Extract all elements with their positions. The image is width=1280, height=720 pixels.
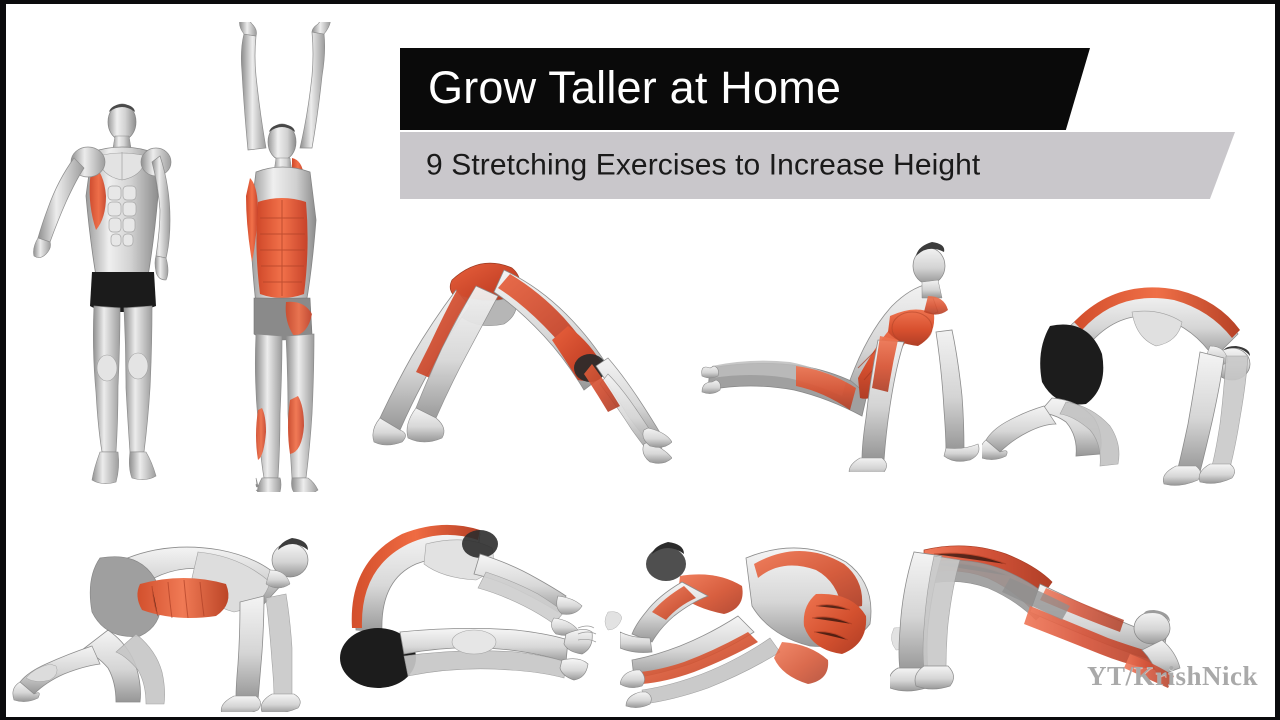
letterbox-right <box>1275 0 1280 720</box>
watermark: YT/KrishNick <box>1087 661 1258 692</box>
figure-seated-fold-twist <box>620 520 912 710</box>
seated-forward-bend-body <box>340 525 622 688</box>
title-bar: Grow Taller at Home <box>400 48 1090 130</box>
page-title: Grow Taller at Home <box>428 62 841 114</box>
letterbox-left <box>0 0 6 720</box>
overhead-reach-body <box>240 22 331 492</box>
cow-pose-body <box>13 538 308 712</box>
figure-cow-pose <box>12 512 334 712</box>
figure-cobra-upward-dog <box>700 240 982 472</box>
seated-fold-body <box>620 542 912 708</box>
cat-pose-body <box>982 287 1250 485</box>
figure-standing-neutral <box>30 100 210 500</box>
downward-dog-body <box>373 263 672 463</box>
subtitle-bar: 9 Stretching Exercises to Increase Heigh… <box>400 132 1235 199</box>
letterbox-top <box>0 0 1280 4</box>
figure-downward-dog <box>352 252 672 480</box>
standing-neutral-body <box>34 104 172 484</box>
cobra-body <box>702 242 979 472</box>
figure-seated-forward-bend <box>330 520 622 710</box>
thumbnail-canvas: Grow Taller at Home 9 Stretching Exercis… <box>0 0 1280 720</box>
figure-cat-pose <box>982 272 1270 490</box>
page-subtitle: 9 Stretching Exercises to Increase Heigh… <box>426 148 980 182</box>
